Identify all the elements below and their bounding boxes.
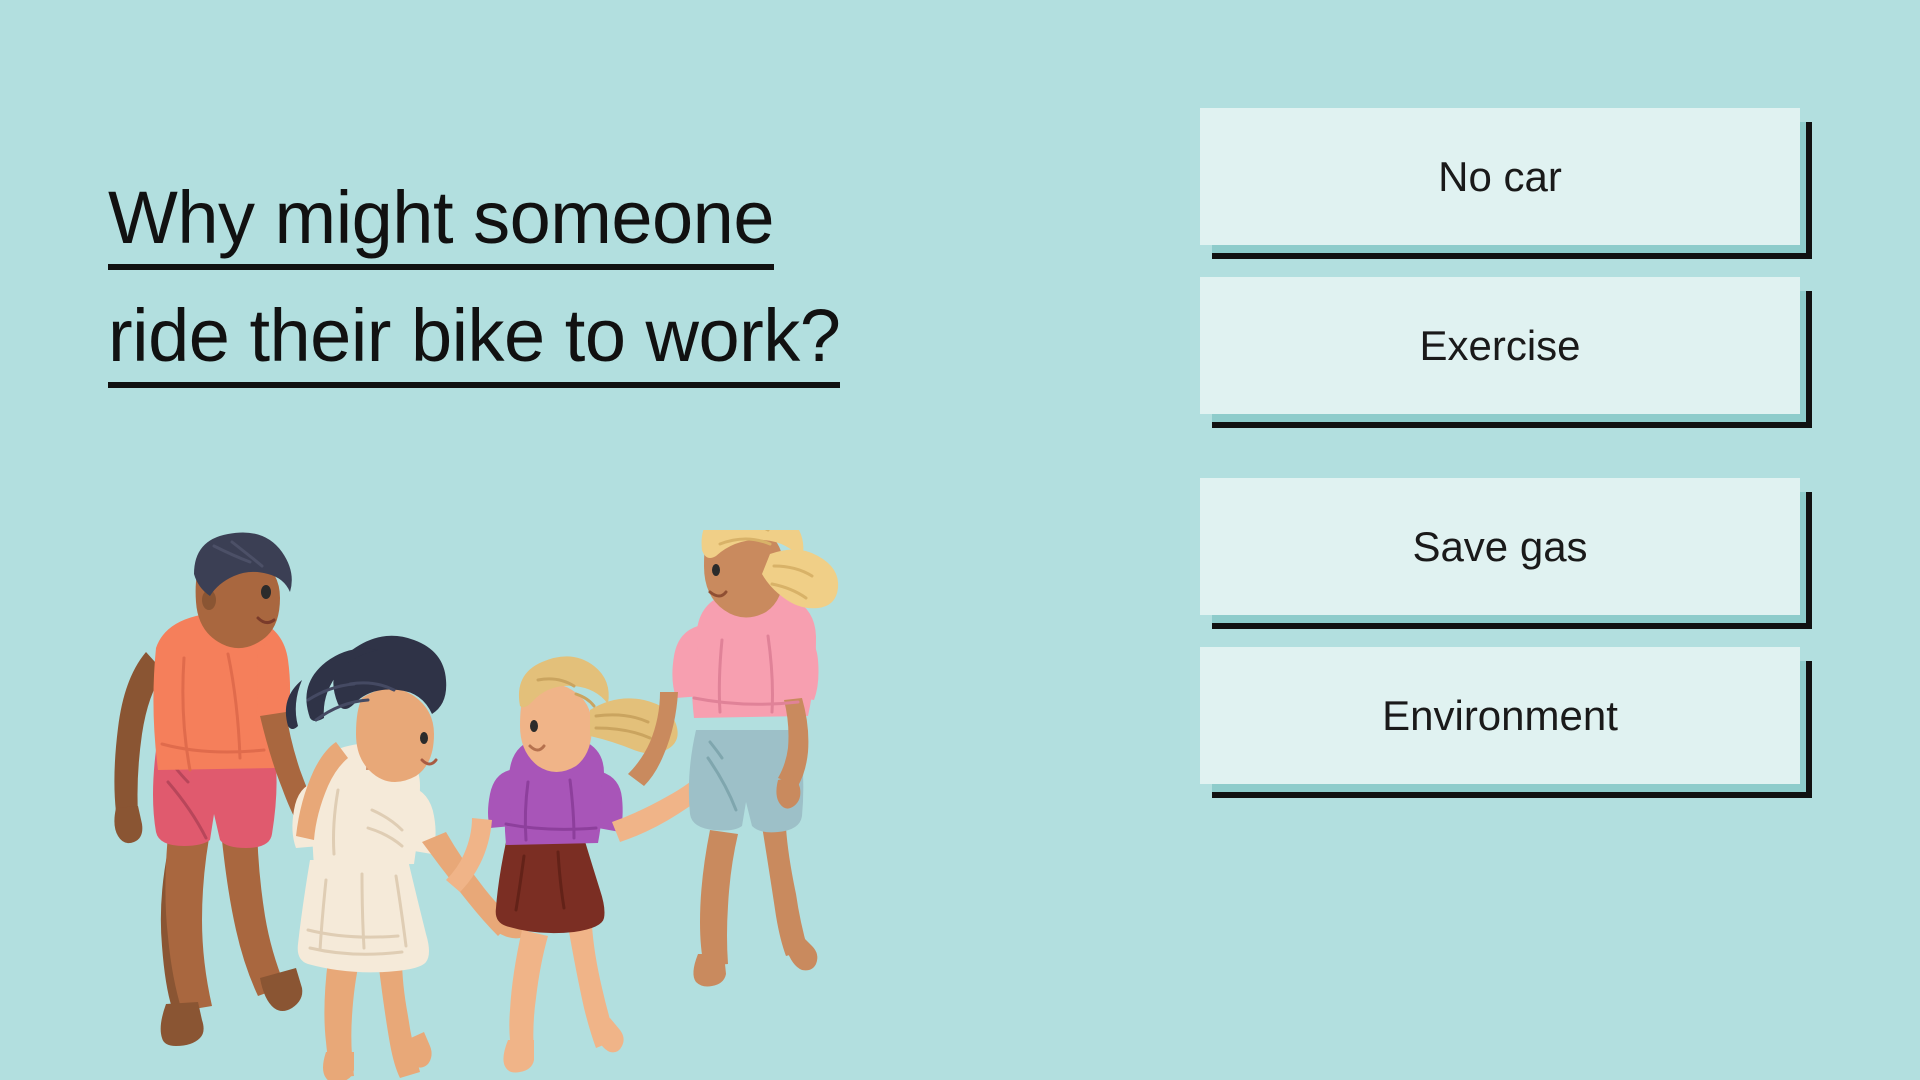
answer-option-3-label: Environment [1382, 695, 1618, 737]
answer-option-0-wrap[interactable]: No car [1200, 108, 1800, 245]
answer-option-1-label: Exercise [1419, 325, 1580, 367]
answer-option-0-box[interactable]: No car [1200, 108, 1800, 245]
title-line-2-text: ride their bike to work? [108, 278, 840, 396]
figure-boy-orange-shirt [114, 532, 334, 1046]
answer-option-3-box[interactable]: Environment [1200, 647, 1800, 784]
answer-option-3[interactable]: Environment [1200, 647, 1820, 784]
answer-option-2-label: Save gas [1412, 526, 1587, 568]
answer-options-list: No car Exercise Save gas [1200, 108, 1820, 784]
title-line-1-text: Why might someone [108, 160, 774, 278]
title-line-1: Why might someone [108, 160, 1068, 278]
answer-option-2[interactable]: Save gas [1200, 478, 1820, 615]
figure-girl-purple-shirt [446, 656, 729, 1072]
answer-option-1-box[interactable]: Exercise [1200, 277, 1800, 414]
children-holding-hands-illustration [110, 530, 870, 1080]
answer-option-1[interactable]: Exercise [1200, 277, 1820, 414]
answer-option-2-box[interactable]: Save gas [1200, 478, 1800, 615]
page-title: Why might someone ride their bike to wor… [108, 160, 1068, 396]
answer-option-3-wrap[interactable]: Environment [1200, 647, 1800, 784]
figure-girl-cream-dress [286, 636, 528, 1080]
slide-canvas: Why might someone ride their bike to wor… [0, 0, 1920, 1080]
answer-option-2-wrap[interactable]: Save gas [1200, 478, 1800, 615]
title-line-2: ride their bike to work? [108, 278, 1068, 396]
answer-option-0-label: No car [1438, 156, 1562, 198]
figure-girl-pink-shirt [628, 530, 838, 987]
answer-option-0[interactable]: No car [1200, 108, 1820, 245]
answer-option-1-wrap[interactable]: Exercise [1200, 277, 1800, 414]
